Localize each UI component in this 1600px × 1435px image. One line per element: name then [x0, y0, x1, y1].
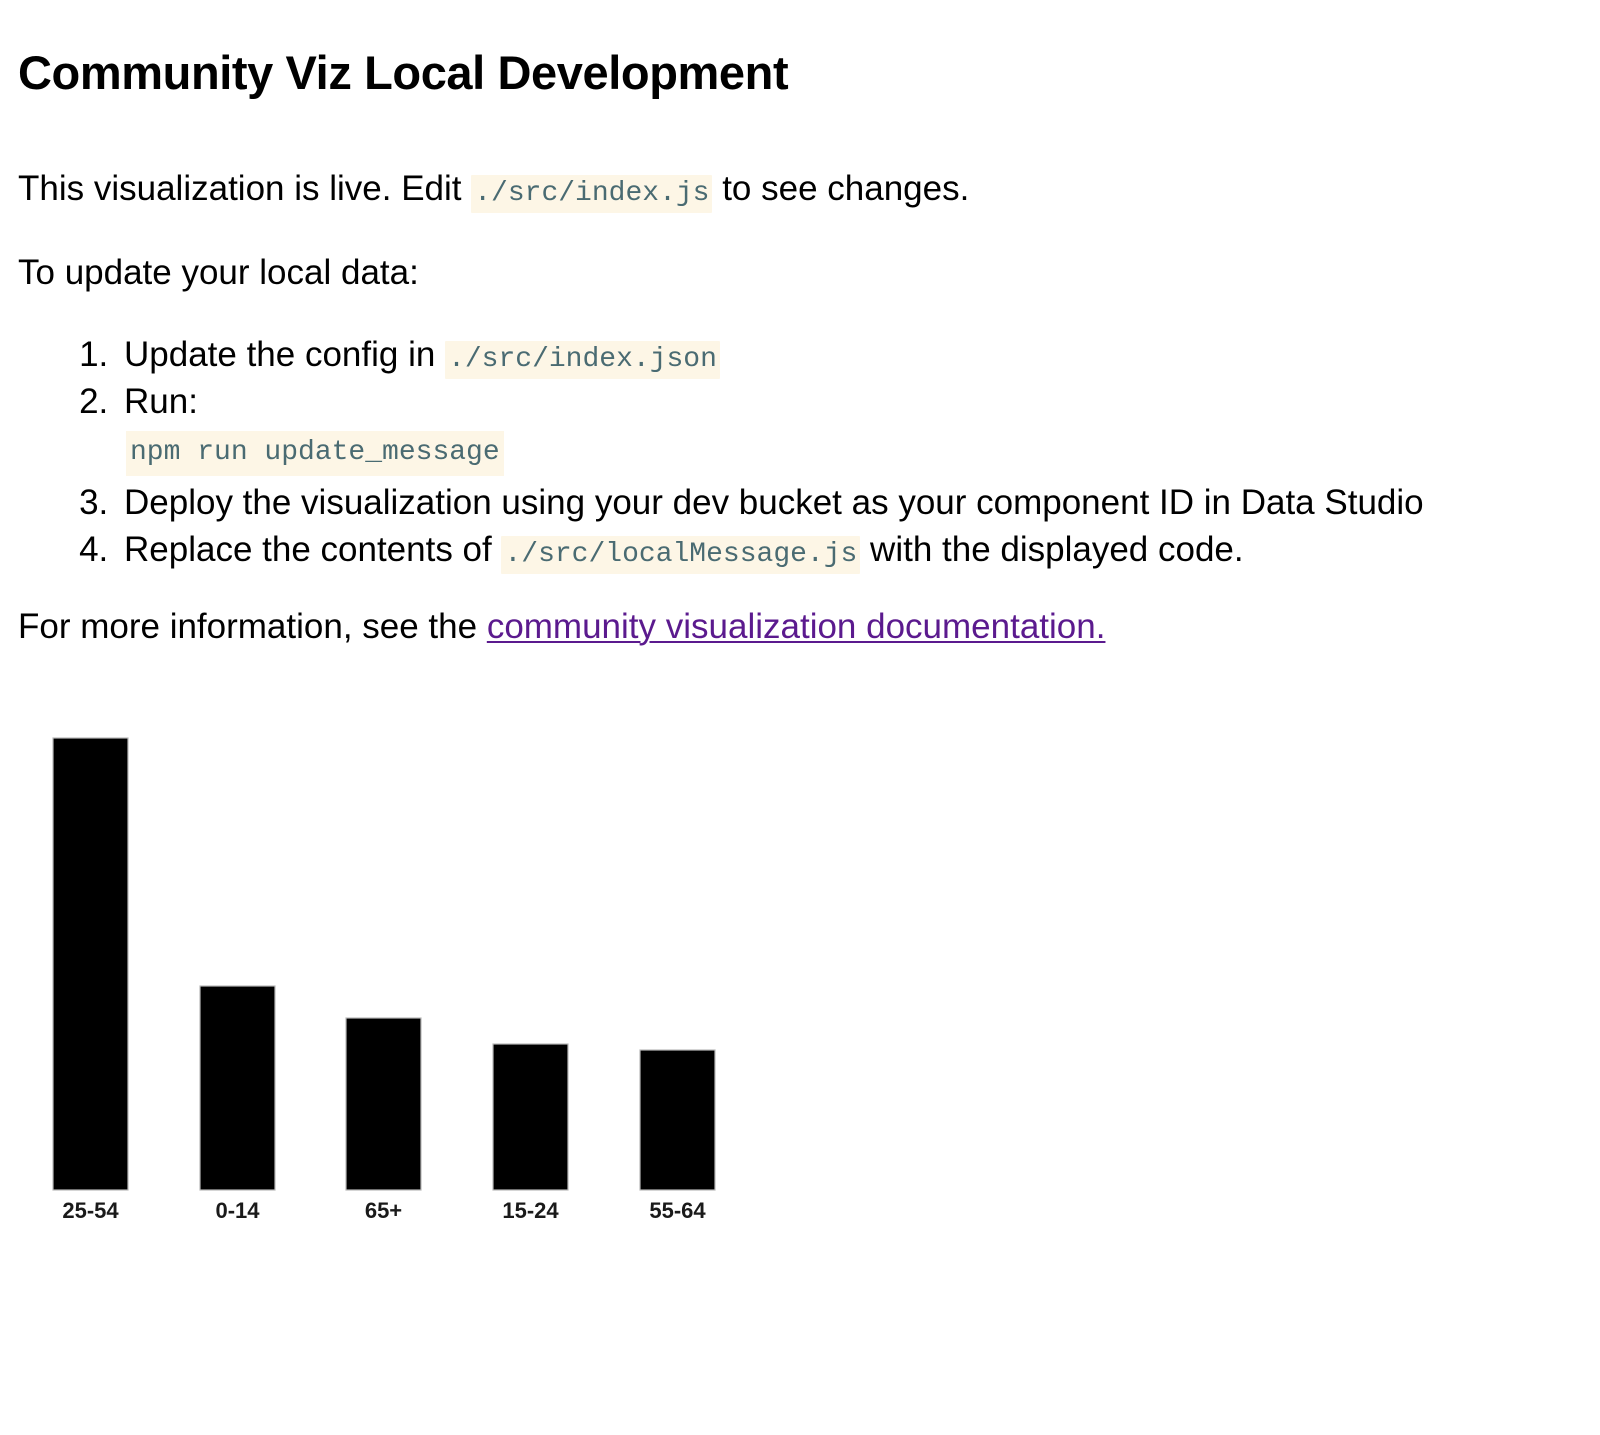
list-item-step-4: Replace the contents of ./src/localMessa…: [118, 527, 1424, 574]
code-block-npm-run: npm run update_message: [126, 431, 504, 476]
list-item-step-3: Deploy the visualization using your dev …: [118, 480, 1424, 527]
list-item-step-2: Run: npm run update_message: [118, 379, 1424, 477]
bar-55-64[interactable]: [640, 1050, 715, 1190]
x-tick-label-55-64: 55-64: [649, 1198, 706, 1223]
x-tick-label-65+: 65+: [365, 1198, 402, 1223]
bar-0-14[interactable]: [200, 986, 275, 1190]
step-1-text-before: Update the config in: [124, 335, 445, 374]
intro-text-after: to see changes.: [712, 169, 969, 208]
step-4-text-before: Replace the contents of: [124, 530, 501, 569]
bar-15-24[interactable]: [493, 1044, 568, 1190]
x-tick-label-15-24: 15-24: [502, 1198, 559, 1223]
inline-code-index-json: ./src/index.json: [445, 341, 720, 379]
x-tick-label-25-54: 25-54: [62, 1198, 119, 1223]
footer-text-before: For more information, see the: [18, 607, 487, 646]
intro-paragraph: This visualization is live. Edit ./src/i…: [18, 168, 969, 211]
step-3-text: Deploy the visualization using your dev …: [124, 483, 1424, 522]
step-4-text-after: with the displayed code.: [860, 530, 1243, 569]
list-item-step-1: Update the config in ./src/index.json: [118, 332, 1424, 379]
update-heading: To update your local data:: [18, 252, 419, 294]
bar-chart-svg: 25-540-1465+15-2455-64: [0, 690, 800, 1250]
inline-code-local-message-js: ./src/localMessage.js: [501, 536, 860, 574]
bar-chart-visualization[interactable]: 25-540-1465+15-2455-64: [0, 690, 800, 1250]
community-visualization-documentation-link[interactable]: community visualization documentation.: [487, 607, 1106, 646]
bar-65+[interactable]: [346, 1018, 421, 1190]
step-2-text-before: Run:: [124, 382, 198, 421]
intro-text-before: This visualization is live. Edit: [18, 169, 471, 208]
page-title: Community Viz Local Development: [18, 48, 788, 97]
community-viz-page: Community Viz Local Development This vis…: [0, 0, 1600, 1435]
steps-list: Update the config in ./src/index.json Ru…: [18, 332, 1424, 574]
inline-code-index-js: ./src/index.js: [471, 175, 712, 213]
x-tick-label-0-14: 0-14: [215, 1198, 260, 1223]
footer-paragraph: For more information, see the community …: [18, 606, 1105, 648]
bar-25-54[interactable]: [53, 738, 128, 1190]
